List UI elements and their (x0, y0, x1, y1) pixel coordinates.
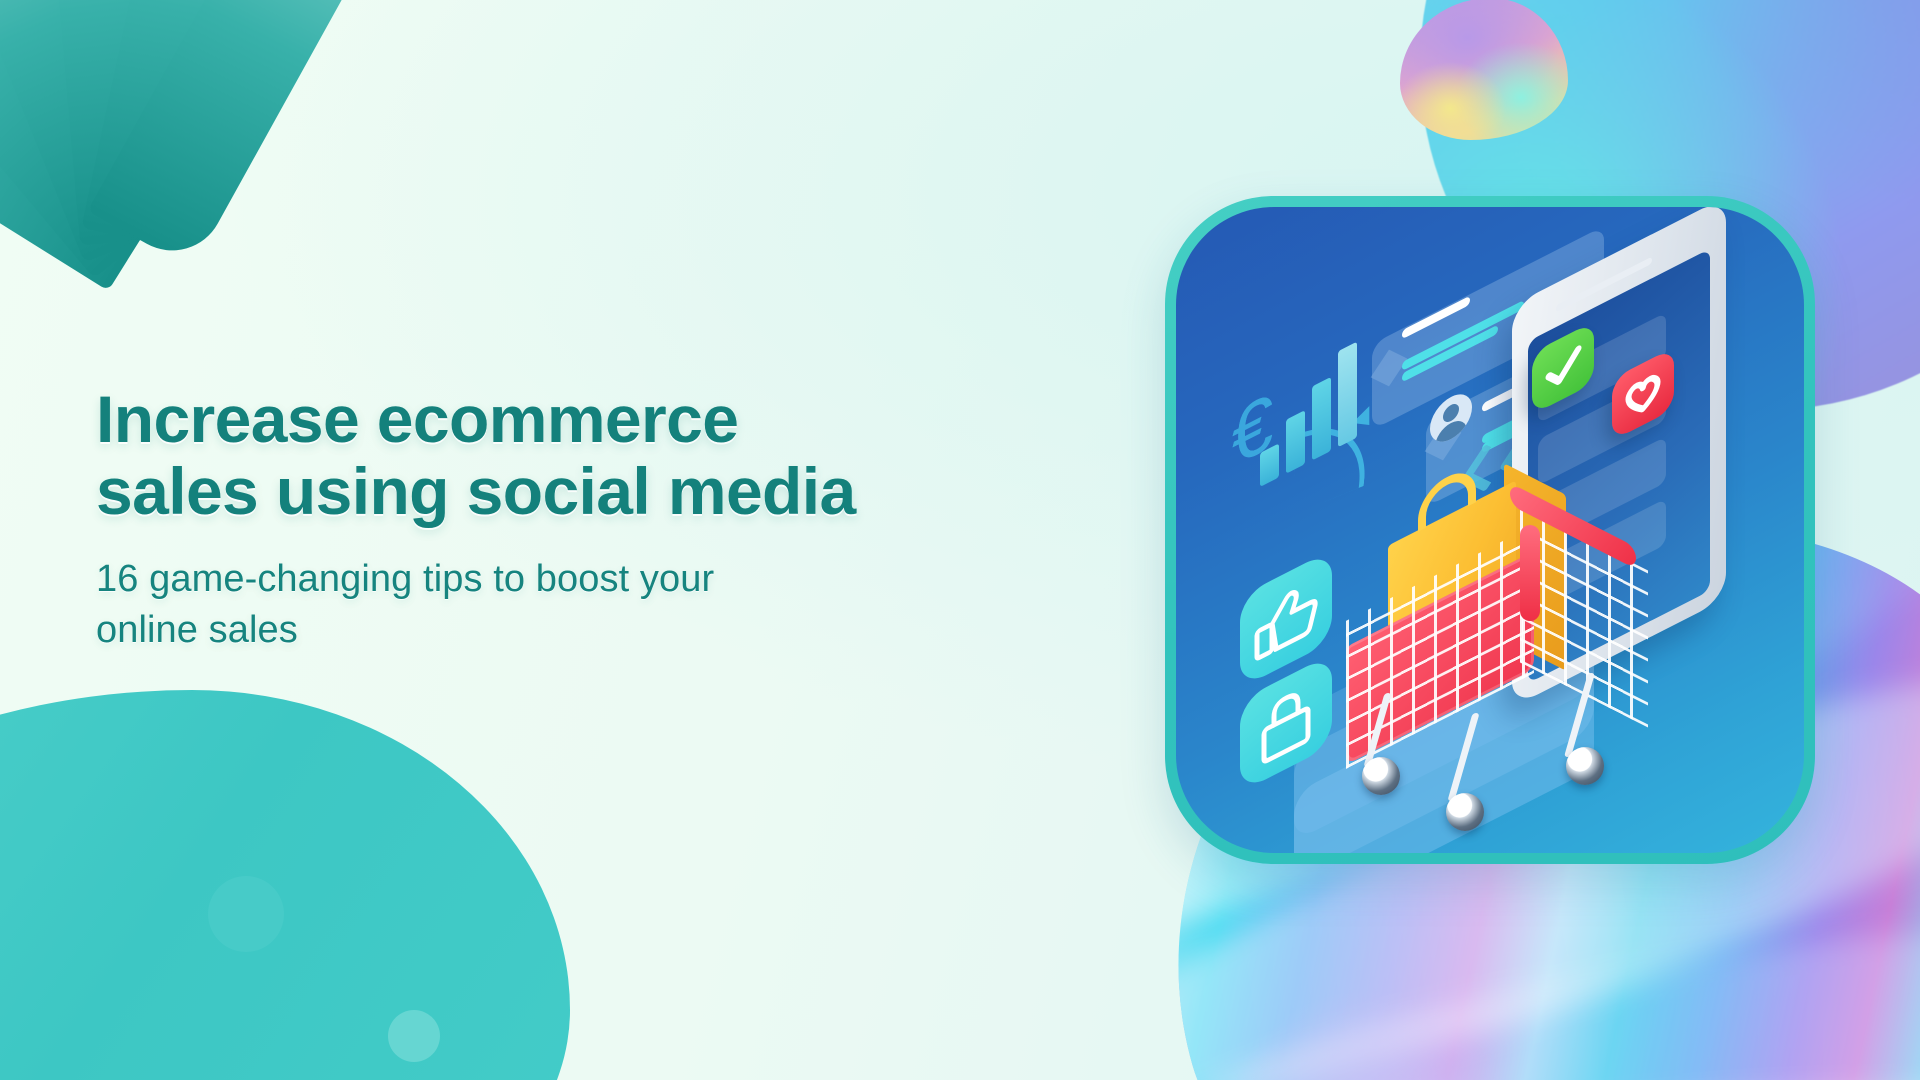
page-title: Increase ecommerce sales using social me… (96, 384, 1096, 528)
shopping-cart (1334, 507, 1664, 847)
cart-leg (1447, 713, 1479, 801)
headline-line-1: Increase ecommerce (96, 382, 738, 456)
subtitle-line-1: 16 game-changing tips to boost your (96, 558, 714, 600)
fan-petals-decoration (0, 0, 400, 240)
card-scene: € (1176, 207, 1804, 853)
card-border-frame: € (1165, 196, 1815, 864)
page-subtitle: 16 game-changing tips to boost your onli… (96, 554, 1096, 656)
bottom-left-blob-decoration (0, 690, 570, 1080)
illustration-card: € (1165, 196, 1815, 864)
subtitle-line-2: online sales (96, 609, 298, 651)
cart-wheel (1446, 793, 1484, 831)
chart-bar (1338, 342, 1357, 448)
hero-copy-block: Increase ecommerce sales using social me… (96, 384, 1096, 656)
decorative-circle (388, 1010, 440, 1062)
chart-bar (1286, 410, 1305, 474)
cart-wheel (1362, 757, 1400, 795)
hero-banner: Increase ecommerce sales using social me… (0, 0, 1920, 1080)
decorative-circle (208, 876, 284, 952)
cart-wheel (1566, 747, 1604, 785)
cart-handle-post (1520, 525, 1540, 621)
chart-bar (1312, 377, 1331, 461)
headline-line-2: sales using social media (96, 454, 856, 528)
